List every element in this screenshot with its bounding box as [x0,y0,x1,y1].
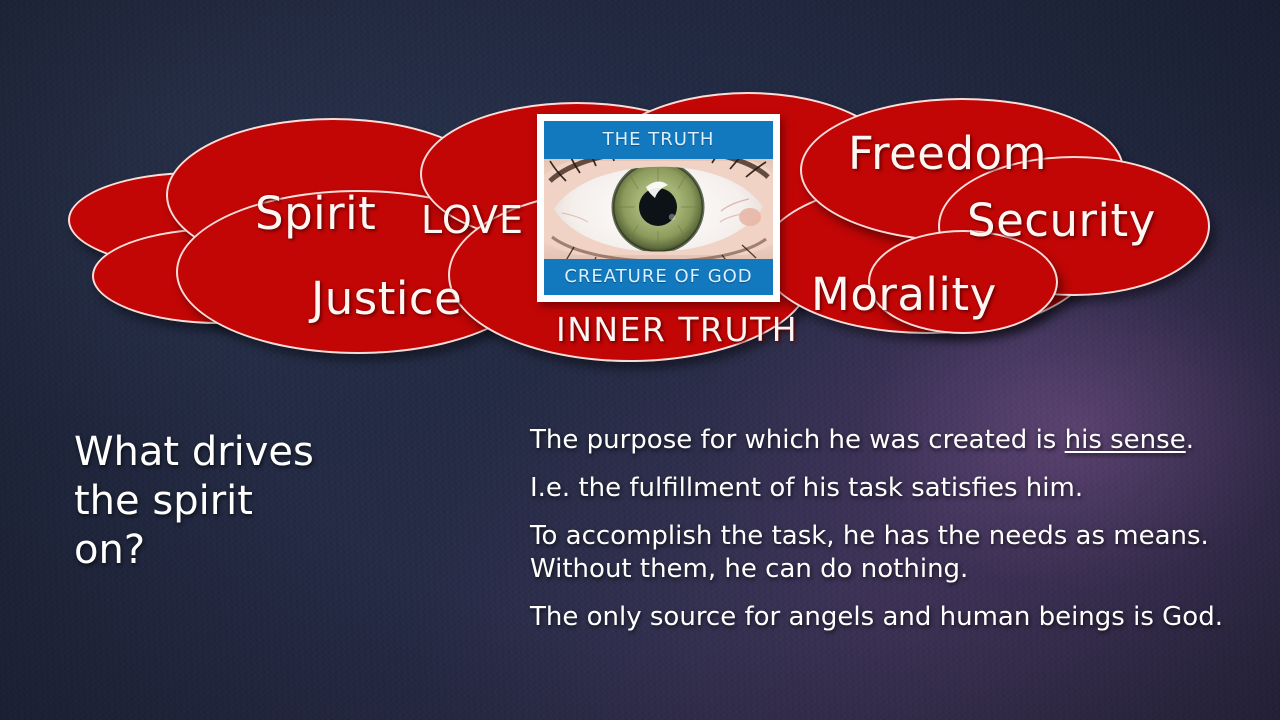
cloud-word-security: Security [967,194,1156,247]
question-line-3: on? [74,526,474,575]
question-line-1: What drives [74,428,474,477]
body-p3-line-2: Without them, he can do nothing. [530,553,1270,585]
body-p3-line-1: To accomplish the task, he has the needs… [530,520,1270,552]
cloud-word-freedom: Freedom [848,127,1047,180]
truth-top-band-label: THE TRUTH [544,121,773,159]
cloud-word-spirit: Spirit [255,187,376,240]
body-paragraph-2: I.e. the fulfillment of his task satisfi… [530,472,1270,504]
body-paragraph-1: The purpose for which he was created is … [530,424,1270,456]
body-p1-prefix: The purpose for which he was created is [530,425,1065,455]
body-paragraph-3: To accomplish the task, he has the needs… [530,520,1270,584]
truth-bottom-band-label: CREATURE OF GOD [544,259,773,295]
cloud-word-morality: Morality [811,268,997,321]
body-p1-suffix: . [1186,425,1194,455]
body-p1-emphasis: his sense [1065,425,1186,455]
cloud-word-love: LOVE [421,198,524,242]
question-heading: What drives the spirit on? [74,428,474,574]
truth-image-card: THE TRUTH CREATURE OF GOD [537,114,780,302]
cloud-word-justice: Justice [311,272,462,325]
truth-image-inner: THE TRUTH CREATURE OF GOD [544,121,773,295]
cloud-caption-inner-truth: INNER TRUTH [556,310,798,349]
slide-canvas: Spirit LOVE Justice Freedom Security Mor… [0,0,1280,720]
question-line-2: the spirit [74,477,474,526]
body-copy: The purpose for which he was created is … [530,424,1270,633]
body-paragraph-4: The only source for angels and human bei… [530,601,1270,633]
